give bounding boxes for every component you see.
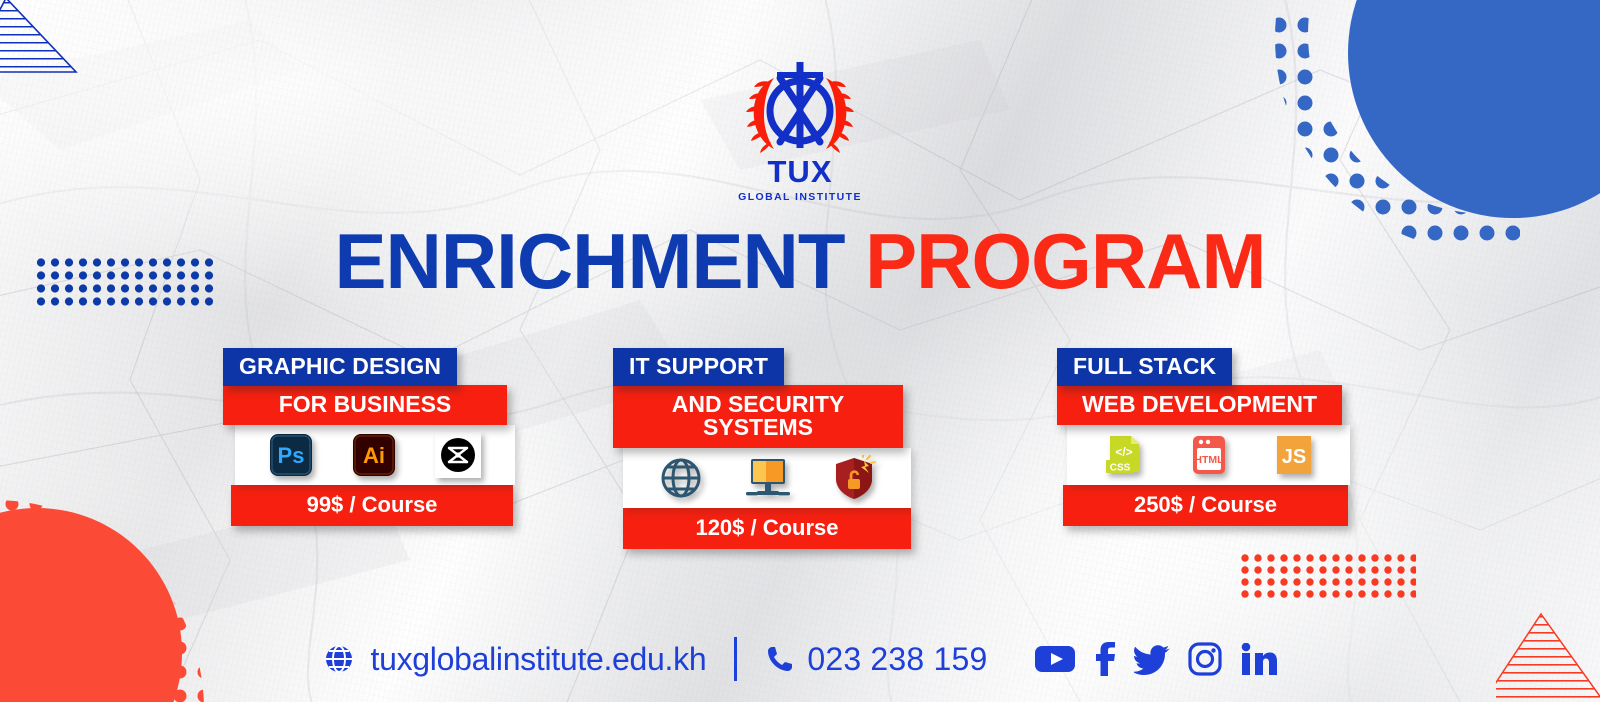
css-file-icon: </> CSS (1101, 432, 1147, 478)
brand-logo: TUX GLOBAL INSTITUTE (0, 56, 1600, 203)
svg-text:Ai: Ai (363, 443, 385, 468)
globe-icon (322, 642, 356, 676)
desktop-monitor-icon (744, 455, 792, 501)
card-icon-strip (623, 448, 911, 508)
decor-red-dot-grid (1240, 552, 1416, 600)
course-card-full-stack[interactable]: FULL STACK WEB DEVELOPMENT </> CSS HTML (1057, 348, 1342, 526)
phone-link[interactable]: 023 238 159 (765, 641, 987, 678)
course-cards: GRAPHIC DESIGN FOR BUSINESS Ps Ai (0, 348, 1600, 533)
logo-wordmark: TUX (768, 156, 833, 187)
contact-bar: tuxglobalinstitute.edu.kh 023 238 159 (0, 628, 1600, 690)
tux-emblem-laurel-icon (730, 56, 870, 160)
headline-word-primary: ENRICHMENT (334, 217, 844, 305)
card-price: 99$ / Course (231, 485, 513, 526)
facebook-icon[interactable] (1094, 642, 1116, 676)
card-title: IT SUPPORT (613, 348, 784, 386)
capcut-icon (435, 432, 481, 478)
logo-tagline: GLOBAL INSTITUTE (738, 191, 862, 203)
svg-text:</>: </> (1115, 445, 1132, 459)
website-text: tuxglobalinstitute.edu.kh (370, 641, 706, 678)
shield-unlock-icon (831, 455, 877, 501)
illustrator-icon: Ai (352, 433, 396, 477)
svg-text:CSS: CSS (1109, 463, 1130, 474)
card-price: 120$ / Course (623, 508, 911, 549)
javascript-icon: JS (1271, 432, 1317, 478)
globe-network-icon (657, 455, 705, 501)
card-subtitle: AND SECURITY SYSTEMS (613, 385, 903, 448)
photoshop-icon: Ps (269, 433, 313, 477)
card-title: GRAPHIC DESIGN (223, 348, 457, 386)
card-icon-strip: </> CSS HTML JS (1067, 425, 1350, 485)
social-links (1034, 642, 1278, 676)
card-subtitle: WEB DEVELOPMENT (1057, 385, 1342, 425)
youtube-icon[interactable] (1034, 644, 1076, 674)
html-window-icon: HTML (1186, 432, 1232, 478)
svg-text:Ps: Ps (277, 443, 304, 468)
phone-text: 023 238 159 (807, 641, 987, 678)
promotional-banner: TUX GLOBAL INSTITUTE ENRICHMENT PROGRAM … (0, 0, 1600, 702)
card-title: FULL STACK (1057, 348, 1232, 386)
instagram-icon[interactable] (1188, 642, 1222, 676)
svg-text:HTML: HTML (1194, 454, 1224, 466)
website-link[interactable]: tuxglobalinstitute.edu.kh (322, 641, 706, 678)
card-icon-strip: Ps Ai (235, 425, 515, 485)
card-subtitle: FOR BUSINESS (223, 385, 507, 425)
course-card-it-support[interactable]: IT SUPPORT AND SECURITY SYSTEMS (613, 348, 903, 549)
svg-text:JS: JS (1281, 446, 1305, 468)
course-card-graphic-design[interactable]: GRAPHIC DESIGN FOR BUSINESS Ps Ai (223, 348, 507, 526)
twitter-icon[interactable] (1134, 643, 1170, 675)
headline-word-accent: PROGRAM (865, 217, 1265, 305)
card-price: 250$ / Course (1063, 485, 1348, 526)
page-title: ENRICHMENT PROGRAM (0, 222, 1600, 300)
phone-icon (765, 644, 795, 674)
linkedin-icon[interactable] (1240, 643, 1278, 675)
footer-divider (734, 637, 737, 681)
